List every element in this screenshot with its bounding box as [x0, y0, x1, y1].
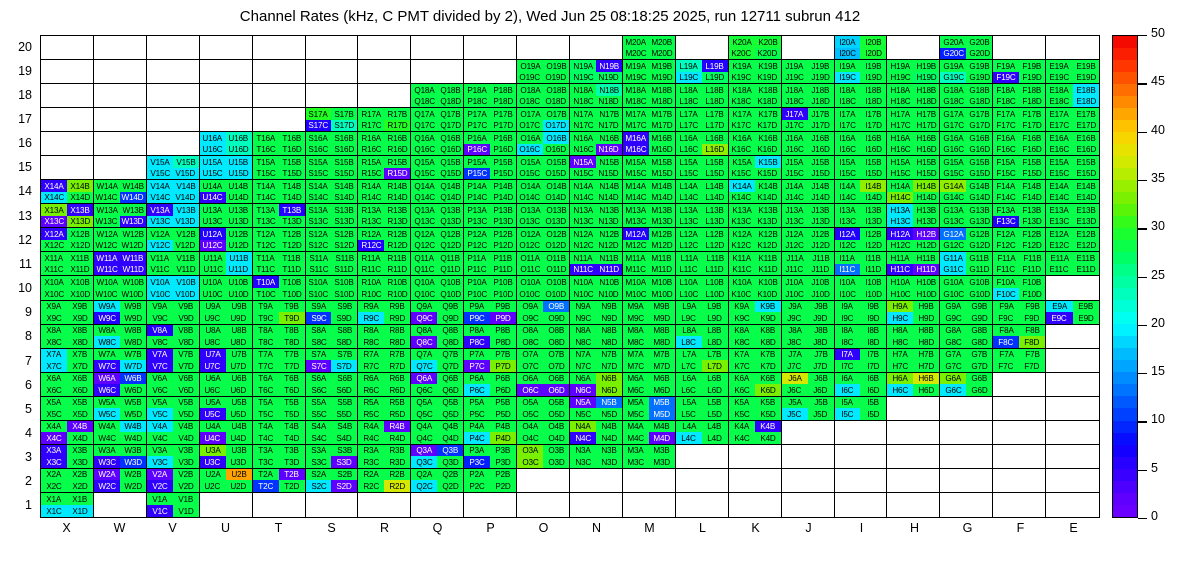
module-cell: X12AX12BX12CX12D [41, 228, 94, 252]
colorbar-tick: 5 [1138, 470, 1190, 471]
channel-pad: O3A [517, 445, 543, 457]
channel-pad: O15C [517, 168, 543, 180]
channel-pad: I10B [860, 276, 886, 288]
channel-pad: L4C [676, 432, 702, 444]
channel-pad: M13B [649, 204, 675, 216]
channel-pad: R15D [384, 168, 410, 180]
channel-pad: M15C [623, 168, 649, 180]
module-cell-empty [147, 108, 200, 132]
channel-pad: O5B [543, 397, 569, 409]
channel-pad: Q9D [437, 312, 463, 324]
channel-pad: H11B [913, 252, 939, 264]
channel-pad: M12B [649, 228, 675, 240]
channel-pad: T16B [279, 132, 305, 144]
channel-pad: O19A [517, 60, 543, 72]
channel-pad: N15B [596, 156, 622, 168]
y-axis-label: 2 [0, 475, 32, 488]
channel-pad: L13B [702, 204, 728, 216]
channel-pad: Q4D [437, 432, 463, 444]
module-cell: F13AF13BF13CF13D [993, 204, 1046, 228]
module-cell-empty [623, 469, 676, 493]
channel-pad: L17B [702, 108, 728, 120]
channel-pad: V5A [147, 397, 173, 409]
channel-pad: K12A [729, 228, 755, 240]
channel-pad: U10C [200, 288, 226, 300]
module-cell: M6AM6BM6CM6D [623, 373, 676, 397]
channel-pad: R10C [358, 288, 384, 300]
channel-pad: P2B [490, 469, 516, 481]
module-cell: U2AU2BU2CU2D [200, 469, 253, 493]
channel-pad: H8B [913, 325, 939, 337]
channel-pad: L15A [676, 156, 702, 168]
channel-pad: O16B [543, 132, 569, 144]
channel-pad: T12D [279, 240, 305, 252]
module-cell: U9AU9BU9CU9D [200, 301, 253, 325]
module-cell-empty [993, 373, 1046, 397]
module-cell: X10AX10BX10CX10D [41, 276, 94, 300]
channel-pad: X11C [41, 264, 67, 276]
channel-pad: W3B [120, 445, 146, 457]
channel-pad: Q15B [437, 156, 463, 168]
channel-pad: N6A [570, 373, 596, 385]
channel-pad: V7C [147, 360, 173, 372]
channel-pad: H7D [913, 360, 939, 372]
channel-pad: K9B [755, 301, 781, 313]
module-cell-empty [940, 469, 993, 493]
channel-pad: X8A [41, 325, 67, 337]
module-cell: T9AT9BT9CT9D [253, 301, 306, 325]
channel-pad: J19D [808, 72, 834, 84]
channel-pad: R14A [358, 180, 384, 192]
channel-pad: X12D [67, 240, 93, 252]
colorbar-tick: 40 [1138, 132, 1190, 133]
channel-pad: P5A [464, 397, 490, 409]
channel-pad: H7C [887, 360, 913, 372]
channel-pad: J18A [782, 84, 808, 96]
channel-pad: N19D [596, 72, 622, 84]
channel-pad: G15B [966, 156, 992, 168]
module-cell: H12AH12BH12CH12D [887, 228, 940, 252]
channel-pad: S12A [306, 228, 332, 240]
channel-pad: O10C [517, 288, 543, 300]
channel-pad: L13C [676, 216, 702, 228]
channel-pad: H10D [913, 288, 939, 300]
channel-pad: L9D [702, 312, 728, 324]
channel-pad: T9D [279, 312, 305, 324]
channel-pad: M14C [623, 192, 649, 204]
channel-pad: H11A [887, 252, 913, 264]
channel-pad: L13A [676, 204, 702, 216]
channel-pad: S14A [306, 180, 332, 192]
channel-pad: X9A [41, 301, 67, 313]
channel-pad: M5C [623, 408, 649, 420]
channel-pad: Q8D [437, 336, 463, 348]
channel-pad: O16C [517, 144, 543, 156]
channel-pad: G16C [940, 144, 966, 156]
channel-pad: S7D [331, 360, 357, 372]
module-cell-empty [200, 60, 253, 84]
channel-pad: T3B [279, 445, 305, 457]
channel-pad: P18D [490, 96, 516, 108]
module-cell-empty [1046, 349, 1099, 373]
module-cell-empty [94, 60, 147, 84]
module-cell: M4AM4BM4CM4D [623, 421, 676, 445]
channel-pad: L6A [676, 373, 702, 385]
channel-pad: N5D [596, 408, 622, 420]
y-axis-label: 8 [0, 330, 32, 343]
channel-pad: H8C [887, 336, 913, 348]
module-cell-empty [729, 469, 782, 493]
module-cell-empty [306, 84, 359, 108]
channel-pad: X14D [67, 192, 93, 204]
channel-pad: I18C [835, 96, 861, 108]
channel-pad: N5A [570, 397, 596, 409]
module-cell: L14AL14BL14CL14D [676, 180, 729, 204]
module-cell: K4AK4BK4CK4D [729, 421, 782, 445]
channel-pad: N8B [596, 325, 622, 337]
channel-pad: I9D [860, 312, 886, 324]
channel-pad: U9A [200, 301, 226, 313]
channel-pad: O13B [543, 204, 569, 216]
channel-pad: X3B [67, 445, 93, 457]
channel-pad: R5D [384, 408, 410, 420]
channel-pad: K20B [755, 36, 781, 48]
channel-pad: P17D [490, 120, 516, 132]
channel-pad: H14B [913, 180, 939, 192]
channel-pad: S3D [331, 456, 357, 468]
y-axis-label: 3 [0, 451, 32, 464]
module-cell: P13AP13BP13CP13D [464, 204, 517, 228]
channel-pad: M8B [649, 325, 675, 337]
channel-pad: X1B [67, 493, 93, 505]
channel-pad: U13B [226, 204, 252, 216]
channel-pad: Q3A [411, 445, 437, 457]
channel-pad: N9C [570, 312, 596, 324]
channel-pad: X11B [67, 252, 93, 264]
module-cell: R3AR3BR3CR3D [358, 445, 411, 469]
channel-pad: X4D [67, 432, 93, 444]
channel-pad: V10A [147, 276, 173, 288]
module-cell-empty [940, 421, 993, 445]
channel-pad: E13A [1046, 204, 1072, 216]
channel-pad: I17C [835, 120, 861, 132]
module-cell: O17AO17BO17CO17D [517, 108, 570, 132]
channel-pad: K18B [755, 84, 781, 96]
channel-pad: G6D [966, 384, 992, 396]
channel-pad: P15D [490, 168, 516, 180]
channel-pad: U11A [200, 252, 226, 264]
channel-pad: L14D [702, 192, 728, 204]
channel-pad: G18A [940, 84, 966, 96]
channel-pad: W7C [94, 360, 120, 372]
channel-pad: H16C [887, 144, 913, 156]
module-cell: H14AH14BH14CH14D [887, 180, 940, 204]
channel-pad: U16D [226, 144, 252, 156]
channel-pad: L11D [702, 264, 728, 276]
channel-pad: G11A [940, 252, 966, 264]
channel-pad: R7C [358, 360, 384, 372]
channel-pad: L19C [676, 72, 702, 84]
channel-pad: T8C [253, 336, 279, 348]
y-axis-label: 19 [0, 65, 32, 78]
channel-pad: L10C [676, 288, 702, 300]
channel-pad: J12C [782, 240, 808, 252]
channel-pad: O17C [517, 120, 543, 132]
module-cell: T14AT14BT14CT14D [253, 180, 306, 204]
channel-pad: V2D [173, 480, 199, 492]
channel-pad: S13D [331, 216, 357, 228]
channel-pad: F17D [1019, 120, 1045, 132]
module-cell: U13AU13BU13CU13D [200, 204, 253, 228]
channel-pad: K10A [729, 276, 755, 288]
channel-pad: S14C [306, 192, 332, 204]
page-title: Channel Rates (kHz, C PMT divided by 2),… [0, 8, 1100, 25]
channel-pad: S17B [331, 108, 357, 120]
channel-pad: O16D [543, 144, 569, 156]
channel-pad: P3A [464, 445, 490, 457]
channel-pad: I14B [860, 180, 886, 192]
channel-pad: S6B [331, 373, 357, 385]
x-axis-label: K [729, 522, 782, 535]
channel-pad: U2C [200, 480, 226, 492]
channel-pad: S13A [306, 204, 332, 216]
channel-pad: F9B [1019, 301, 1045, 313]
channel-pad: X11D [67, 264, 93, 276]
channel-pad: H19A [887, 60, 913, 72]
module-cell: X6AX6BX6CX6D [41, 373, 94, 397]
channel-pad: N9B [596, 301, 622, 313]
channel-pad: V11B [173, 252, 199, 264]
channel-pad: L15C [676, 168, 702, 180]
module-cell: R5AR5BR5CR5D [358, 397, 411, 421]
channel-pad: O18D [543, 96, 569, 108]
module-cell: Q17AQ17BQ17CQ17D [411, 108, 464, 132]
channel-pad: N17D [596, 120, 622, 132]
channel-pad: X7B [67, 349, 93, 361]
channel-pad: H17C [887, 120, 913, 132]
channel-pad: G9D [966, 312, 992, 324]
channel-pad: T4C [253, 432, 279, 444]
channel-pad: F13D [1019, 216, 1045, 228]
channel-pad: P18B [490, 84, 516, 96]
channel-pad: E12B [1073, 228, 1099, 240]
channel-pad: O6C [517, 384, 543, 396]
channel-pad: N8C [570, 336, 596, 348]
channel-pad: U13C [200, 216, 226, 228]
channel-pad: H11C [887, 264, 913, 276]
channel-pad: X11A [41, 252, 67, 264]
module-cell: N9AN9BN9CN9D [570, 301, 623, 325]
channel-pad: K16A [729, 132, 755, 144]
channel-pad: I8A [835, 325, 861, 337]
colorbar-tick: 35 [1138, 180, 1190, 181]
channel-pad: N14B [596, 180, 622, 192]
channel-pad: G16A [940, 132, 966, 144]
channel-pad: U4A [200, 421, 226, 433]
module-cell: G7AG7BG7CG7D [940, 349, 993, 373]
module-cell-empty [835, 469, 888, 493]
module-cell: P11AP11BP11CP11D [464, 252, 517, 276]
module-cell: E13AE13BE13CE13D [1046, 204, 1099, 228]
channel-pad: Q14B [437, 180, 463, 192]
module-cell-empty [411, 60, 464, 84]
module-cell: O11AO11BO11CO11D [517, 252, 570, 276]
channel-pad: O19B [543, 60, 569, 72]
channel-pad: L12B [702, 228, 728, 240]
module-cell: M14AM14BM14CM14D [623, 180, 676, 204]
channel-pad: I18D [860, 96, 886, 108]
channel-pad: N12C [570, 240, 596, 252]
channel-pad: M19C [623, 72, 649, 84]
channel-pad: O10D [543, 288, 569, 300]
channel-pad: Q4A [411, 421, 437, 433]
channel-pad: L15D [702, 168, 728, 180]
channel-pad: T11C [253, 264, 279, 276]
module-cell: U15AU15BU15CU15D [200, 156, 253, 180]
channel-pad: T11B [279, 252, 305, 264]
channel-pad: X7C [41, 360, 67, 372]
channel-pad: S6C [306, 384, 332, 396]
channel-pad: V14D [173, 192, 199, 204]
channel-pad: P13B [490, 204, 516, 216]
channel-pad: L12A [676, 228, 702, 240]
colorbar-tick: 15 [1138, 373, 1190, 374]
channel-pad: F9C [993, 312, 1019, 324]
channel-pad: S8A [306, 325, 332, 337]
module-cell: F11AF11BF11CF11D [993, 252, 1046, 276]
channel-pad: M13C [623, 216, 649, 228]
channel-pad: G10A [940, 276, 966, 288]
channel-pad: H10A [887, 276, 913, 288]
module-cell-empty [993, 397, 1046, 421]
module-cell: G9AG9BG9CG9D [940, 301, 993, 325]
module-cell-empty [253, 108, 306, 132]
module-cell: J19AJ19BJ19CJ19D [782, 60, 835, 84]
module-cell: H10AH10BH10CH10D [887, 276, 940, 300]
channel-pad: O14D [543, 192, 569, 204]
y-axis-label: 18 [0, 89, 32, 102]
channel-pad: L15B [702, 156, 728, 168]
heatmap-grid-frame: M20AM20BM20CM20DK20AK20BK20CK20DI20AI20B… [40, 35, 1100, 518]
channel-pad: T7C [253, 360, 279, 372]
channel-pad: R12D [384, 240, 410, 252]
channel-pad: G14B [966, 180, 992, 192]
channel-pad: W12B [120, 228, 146, 240]
channel-pad: K19B [755, 60, 781, 72]
channel-pad: G14A [940, 180, 966, 192]
channel-pad: J13C [782, 216, 808, 228]
module-cell: S5AS5BS5CS5D [306, 397, 359, 421]
channel-pad: M17A [623, 108, 649, 120]
module-cell: J7AJ7BJ7CJ7D [782, 349, 835, 373]
channel-pad: X12A [41, 228, 67, 240]
channel-pad: F19C [993, 72, 1019, 84]
channel-pad: M3B [649, 445, 675, 457]
channel-pad: J18D [808, 96, 834, 108]
channel-pad: H13D [913, 216, 939, 228]
module-cell: X9AX9BX9CX9D [41, 301, 94, 325]
channel-pad: H9A [887, 301, 913, 313]
channel-pad: M7D [649, 360, 675, 372]
channel-pad: M16C [623, 144, 649, 156]
channel-pad: G12B [966, 228, 992, 240]
module-cell: S13AS13BS13CS13D [306, 204, 359, 228]
channel-pad: I18A [835, 84, 861, 96]
channel-pad: T10D [279, 288, 305, 300]
channel-pad: T13C [253, 216, 279, 228]
channel-pad: K10C [729, 288, 755, 300]
channel-pad: P17A [464, 108, 490, 120]
channel-pad: K5B [755, 397, 781, 409]
module-cell-empty [147, 36, 200, 60]
channel-pad: O18A [517, 84, 543, 96]
channel-pad: I19C [835, 72, 861, 84]
channel-pad: I16A [835, 132, 861, 144]
module-cell: V11AV11BV11CV11D [147, 252, 200, 276]
channel-pad: W2C [94, 480, 120, 492]
channel-pad: Q18D [437, 96, 463, 108]
module-cell: L13AL13BL13CL13D [676, 204, 729, 228]
channel-pad: X8B [67, 325, 93, 337]
channel-pad: X5A [41, 397, 67, 409]
module-cell: T7AT7BT7CT7D [253, 349, 306, 373]
channel-pad: W11B [120, 252, 146, 264]
channel-pad: J14B [808, 180, 834, 192]
channel-pad: U2A [200, 469, 226, 481]
channel-pad: P5B [490, 397, 516, 409]
channel-pad: T8D [279, 336, 305, 348]
channel-pad: X6B [67, 373, 93, 385]
channel-pad: P5C [464, 408, 490, 420]
channel-pad: J17A [782, 108, 808, 120]
channel-pad: T13B [279, 204, 305, 216]
channel-pad: T14A [253, 180, 279, 192]
module-cell: I15AI15BI15CI15D [835, 156, 888, 180]
channel-pad: Q17D [437, 120, 463, 132]
channel-pad: Q15C [411, 168, 437, 180]
channel-pad: O4C [517, 432, 543, 444]
channel-pad: H8D [913, 336, 939, 348]
colorbar-tick-label: 0 [1151, 510, 1158, 523]
channel-pad: U16A [200, 132, 226, 144]
channel-pad: E13B [1073, 204, 1099, 216]
channel-pad: S6A [306, 373, 332, 385]
channel-pad: M5A [623, 397, 649, 409]
channel-pad: M14D [649, 192, 675, 204]
module-cell: R6AR6BR6CR6D [358, 373, 411, 397]
channel-pad: R15B [384, 156, 410, 168]
channel-pad: I20B [860, 36, 886, 48]
module-cell-empty [41, 60, 94, 84]
channel-pad: K11B [755, 252, 781, 264]
channel-pad: V2A [147, 469, 173, 481]
channel-pad: G19A [940, 60, 966, 72]
channel-pad: R3C [358, 456, 384, 468]
channel-pad: R12A [358, 228, 384, 240]
channel-pad: M17B [649, 108, 675, 120]
module-cell: S14AS14BS14CS14D [306, 180, 359, 204]
channel-pad: T6C [253, 384, 279, 396]
module-cell: K17AK17BK17CK17D [729, 108, 782, 132]
channel-pad: R6B [384, 373, 410, 385]
channel-pad: N12B [596, 228, 622, 240]
channel-pad: W14C [94, 192, 120, 204]
module-cell: I13AI13BI13CI13D [835, 204, 888, 228]
module-cell: K20AK20BK20CK20D [729, 36, 782, 60]
channel-pad: L9C [676, 312, 702, 324]
channel-pad: E18C [1046, 96, 1072, 108]
module-cell: U3AU3BU3CU3D [200, 445, 253, 469]
